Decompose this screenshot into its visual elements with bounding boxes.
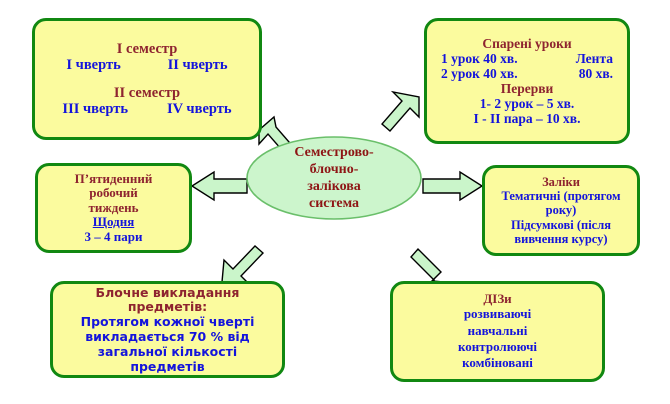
node-paired-lessons[interactable]: Спарені уроки 1 урок 40 хв. Лента 2 урок… (424, 18, 630, 144)
paired-break-1: 1- 2 урок – 5 хв. (480, 96, 575, 111)
dz-line-3: контролюючі (458, 339, 537, 355)
zaliky-line-1: Тематичні (протягом (502, 189, 621, 204)
week-daily-label: Щодня (93, 215, 135, 230)
week-header-line-1: П’ятиденний (75, 172, 153, 187)
semesters-quarter-3: ІІІ чверть (62, 101, 128, 117)
block-line-1: Протягом кожної чверті (81, 314, 255, 329)
week-header-line-2: робочий (89, 186, 138, 201)
semesters-quarter-1: І чверть (66, 57, 120, 73)
node-five-day-week[interactable]: П’ятиденний робочий тиждень Щодня 3 – 4 … (35, 163, 192, 253)
node-semesters[interactable]: І семестр І чверть ІІ чверть ІІ семестр … (32, 18, 262, 140)
semesters-row-2: ІІІ чверть IV чверть (43, 101, 251, 117)
arrow-to-five-day-week (192, 172, 247, 200)
paired-header-1: Спарені уроки (482, 36, 571, 51)
semesters-quarter-4: IV чверть (167, 101, 232, 117)
node-dz[interactable]: ДІЗи розвиваючі навчальні контролюючі ко… (390, 281, 605, 382)
paired-break-2: І - ІІ пара – 10 хв. (474, 111, 581, 126)
dz-header: ДІЗи (483, 292, 511, 307)
dz-line-1: розвиваючі (464, 306, 531, 322)
semesters-quarter-2: ІІ чверть (168, 57, 228, 73)
arrow-to-paired-lessons (382, 92, 419, 131)
paired-lesson-2: 2 урок 40 хв. (441, 66, 518, 81)
dz-line-2: навчальні (468, 323, 528, 339)
node-zaliky[interactable]: Заліки Тематичні (протягом року) Підсумк… (482, 165, 640, 256)
paired-lenta-duration: 80 хв. (579, 66, 613, 81)
semesters-row-1: І чверть ІІ чверть (43, 57, 251, 73)
zaliky-line-4: вивчення курсу) (514, 232, 607, 247)
zaliky-line-2: року) (546, 203, 577, 218)
paired-lenta-label: Лента (576, 51, 613, 66)
dz-line-4: комбіновані (462, 355, 533, 371)
semesters-header-1: І семестр (117, 41, 178, 57)
zaliky-line-3: Підсумкові (після (511, 218, 611, 233)
block-line-2: викладається 70 % від (85, 329, 250, 344)
semesters-header-2: ІІ семестр (114, 85, 180, 101)
arrow-to-zaliky (423, 172, 482, 200)
arrow-to-block-teaching (222, 246, 263, 285)
week-pairs-count: 3 – 4 пари (85, 230, 143, 245)
node-block-teaching[interactable]: Блочне викладання предметів: Протягом ко… (50, 281, 285, 378)
paired-row-2: 2 урок 40 хв. 80 хв. (433, 66, 621, 81)
block-header-line-1: Блочне викладання (96, 286, 240, 300)
diagram-canvas: Семестрово- блочно- залікова система І с… (0, 0, 670, 404)
paired-lesson-1: 1 урок 40 хв. (441, 51, 518, 66)
central-ellipse (247, 137, 421, 219)
week-header-line-3: тиждень (88, 201, 138, 216)
block-header-line-2: предметів: (128, 300, 207, 314)
zaliky-header: Заліки (542, 175, 580, 189)
paired-header-2: Перерви (501, 81, 554, 96)
block-line-3: загальної кількості предметів (59, 344, 276, 374)
paired-row-1: 1 урок 40 хв. Лента (433, 51, 621, 66)
